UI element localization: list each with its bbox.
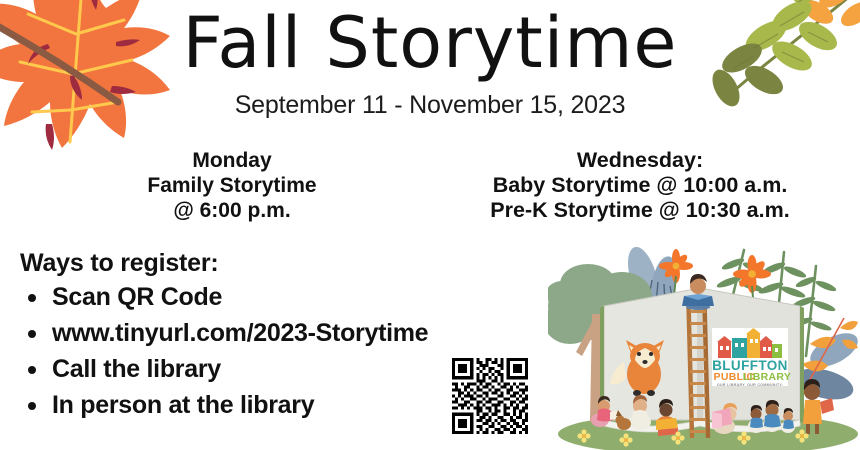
wednesday-line-1: Wednesday:	[420, 148, 860, 173]
logo-tagline: OUR LIBRARY. OUR COMMUNITY.	[717, 383, 783, 387]
qr-code[interactable]	[452, 358, 528, 434]
library-illustration: BLUFFTON PUBLIC LIBRARY OUR LIBRARY. OUR…	[548, 244, 860, 450]
list-item: Scan QR Code	[20, 279, 560, 315]
schedule-wednesday: Wednesday: Baby Storytime @ 10:00 a.m. P…	[420, 148, 860, 223]
monday-line-3: @ 6:00 p.m.	[32, 198, 432, 223]
logo-line2b: LIBRARY	[743, 371, 791, 383]
date-range: September 11 - November 15, 2023	[0, 90, 860, 120]
monday-line-2: Family Storytime	[32, 173, 432, 198]
wednesday-line-3: Pre-K Storytime @ 10:30 a.m.	[420, 198, 860, 223]
library-logo: BLUFFTON PUBLIC LIBRARY OUR LIBRARY. OUR…	[712, 328, 791, 387]
poster-canvas: Fall Storytime September 11 - November 1…	[0, 0, 860, 450]
register-heading: Ways to register:	[20, 248, 560, 279]
list-item: www.tinyurl.com/2023-Storytime	[20, 315, 560, 351]
wednesday-line-2: Baby Storytime @ 10:00 a.m.	[420, 173, 860, 198]
monday-line-1: Monday	[32, 148, 432, 173]
schedule-monday: Monday Family Storytime @ 6:00 p.m.	[32, 148, 432, 223]
page-title: Fall Storytime	[0, 4, 860, 82]
